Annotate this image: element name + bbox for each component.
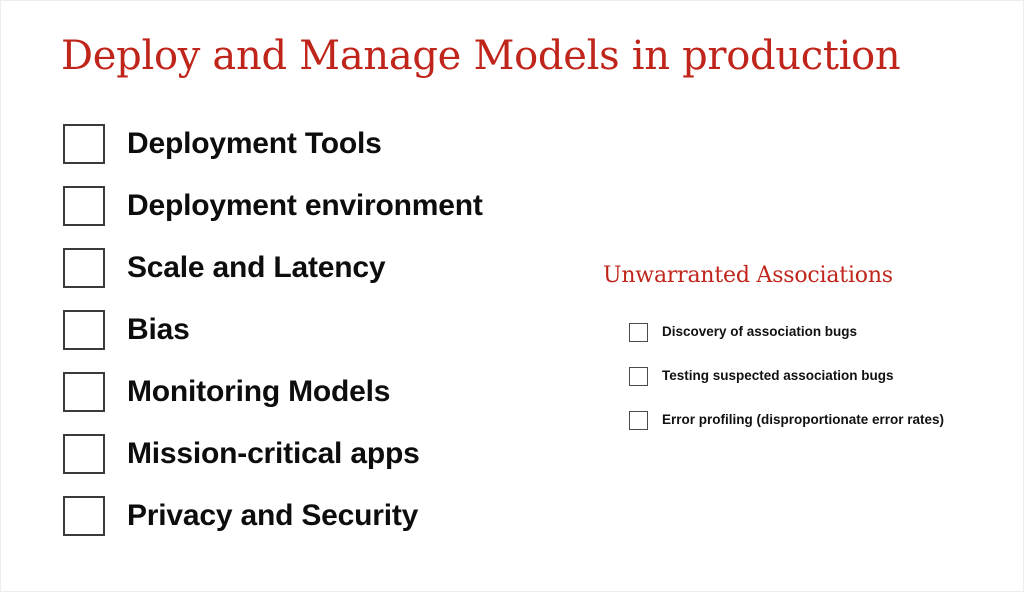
page-title: Deploy and Manage Models in production <box>61 33 900 79</box>
main-checklist: Deployment Tools Deployment environment … <box>63 113 583 547</box>
sub-checklist-item-error-profiling[interactable]: Error profiling (disproportionate error … <box>629 398 1003 442</box>
checklist-item-label: Mission-critical apps <box>127 439 420 469</box>
sub-checklist-item-label: Error profiling (disproportionate error … <box>662 413 944 427</box>
slide-canvas: Deploy and Manage Models in production D… <box>0 0 1024 592</box>
checklist-item-monitoring-models[interactable]: Monitoring Models <box>63 361 583 423</box>
checkbox-icon[interactable] <box>63 434 105 474</box>
checkbox-icon[interactable] <box>63 310 105 350</box>
checklist-item-label: Scale and Latency <box>127 253 385 283</box>
checklist-item-scale-and-latency[interactable]: Scale and Latency <box>63 237 583 299</box>
checklist-item-bias[interactable]: Bias <box>63 299 583 361</box>
checklist-item-deployment-tools[interactable]: Deployment Tools <box>63 113 583 175</box>
checkbox-icon[interactable] <box>63 496 105 536</box>
checkbox-icon[interactable] <box>63 186 105 226</box>
section-heading: Unwarranted Associations <box>603 263 1003 288</box>
checklist-item-label: Privacy and Security <box>127 501 418 531</box>
sub-checklist-item-label: Discovery of association bugs <box>662 325 857 339</box>
checklist-item-label: Bias <box>127 315 190 345</box>
sub-checklist-item-testing[interactable]: Testing suspected association bugs <box>629 354 1003 398</box>
checklist-item-privacy-and-security[interactable]: Privacy and Security <box>63 485 583 547</box>
checkbox-icon[interactable] <box>63 248 105 288</box>
checkbox-icon[interactable] <box>629 367 648 386</box>
checkbox-icon[interactable] <box>63 124 105 164</box>
checkbox-icon[interactable] <box>629 323 648 342</box>
checklist-item-label: Monitoring Models <box>127 377 390 407</box>
unwarranted-associations-section: Unwarranted Associations Discovery of as… <box>603 263 1003 442</box>
checklist-item-mission-critical-apps[interactable]: Mission-critical apps <box>63 423 583 485</box>
sub-checklist-item-label: Testing suspected association bugs <box>662 369 894 383</box>
checklist-item-deployment-environment[interactable]: Deployment environment <box>63 175 583 237</box>
checkbox-icon[interactable] <box>629 411 648 430</box>
checklist-item-label: Deployment Tools <box>127 129 382 159</box>
checklist-item-label: Deployment environment <box>127 191 483 221</box>
sub-checklist-item-discovery[interactable]: Discovery of association bugs <box>629 310 1003 354</box>
checkbox-icon[interactable] <box>63 372 105 412</box>
